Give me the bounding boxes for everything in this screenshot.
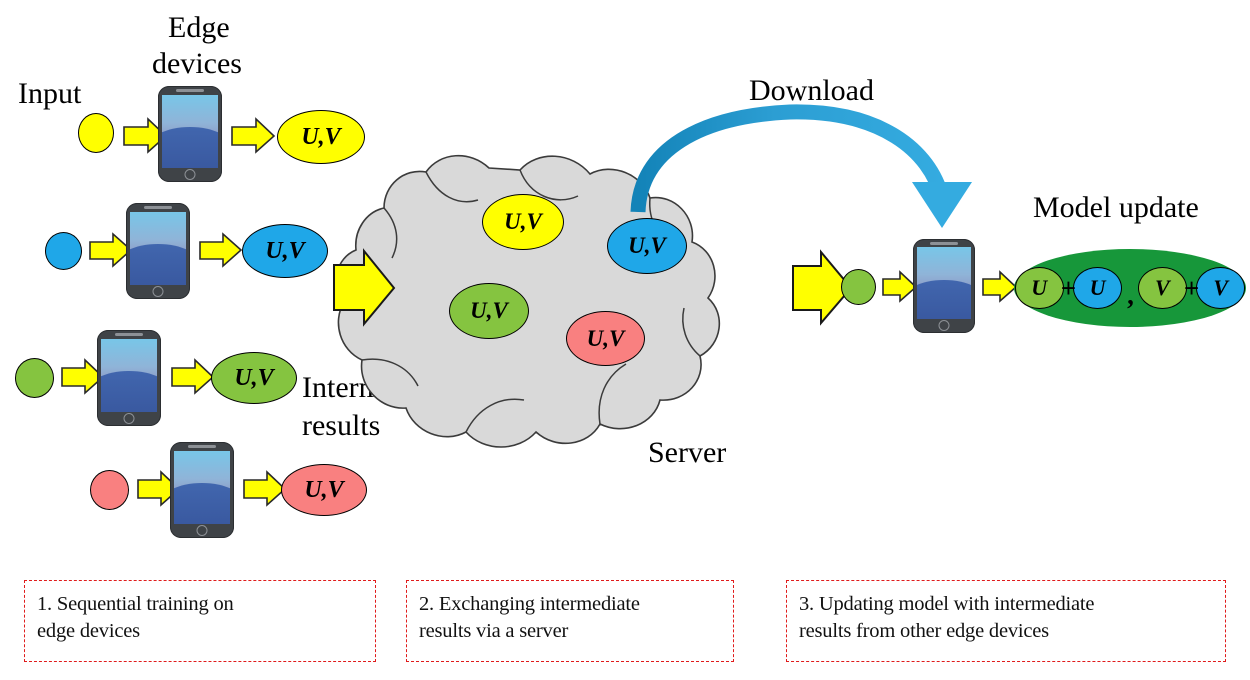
edge-device-phone-update xyxy=(913,239,975,333)
caption-3-line-1: 3. Updating model with intermediate xyxy=(799,591,1213,618)
caption-3-line-2: results from other edge devices xyxy=(799,618,1213,645)
edge-device-phone-1 xyxy=(158,86,222,182)
label-server: Server xyxy=(648,437,726,469)
result-ellipse-row4: U,V xyxy=(281,464,367,516)
model-term-u2: U xyxy=(1073,267,1122,309)
label-intermediate-line2: results xyxy=(302,410,380,442)
phone-home-button-icon xyxy=(153,286,164,297)
input-dot-row1 xyxy=(78,113,114,153)
model-term-v2: V xyxy=(1196,267,1245,309)
phone-wallpaper-arc xyxy=(101,371,156,411)
edge-device-phone-2 xyxy=(126,203,190,299)
phone-screen xyxy=(174,451,229,524)
result-ellipse-row3: U,V xyxy=(211,352,297,404)
model-term-u1: U xyxy=(1015,267,1064,309)
server-item-red: U,V xyxy=(566,311,645,366)
label-download: Download xyxy=(749,75,874,107)
aggregate-input-dot xyxy=(841,269,876,305)
phone-screen xyxy=(101,339,156,412)
phone-speaker-icon xyxy=(176,89,204,92)
server-item-green: U,V xyxy=(449,283,529,339)
phone-screen xyxy=(162,95,217,168)
model-term-v1: V xyxy=(1138,267,1187,309)
label-intermediate-line1: Intermediate xyxy=(302,372,454,404)
server-item-yellow: U,V xyxy=(482,194,564,250)
phone-wallpaper-arc xyxy=(130,244,185,284)
input-dot-row2 xyxy=(45,232,82,270)
caption-box-2: 2. Exchanging intermediate results via a… xyxy=(406,580,734,662)
phone-screen xyxy=(917,247,970,318)
phone-home-button-icon xyxy=(185,169,196,180)
result-ellipse-row1: U,V xyxy=(277,110,365,164)
model-comma: , xyxy=(1127,280,1134,327)
label-edge-devices-line2: devices xyxy=(152,48,242,80)
caption-2-line-1: 2. Exchanging intermediate xyxy=(419,591,721,618)
model-update-expression: U + U , V + V xyxy=(1014,249,1246,327)
phone-wallpaper-arc xyxy=(174,483,229,523)
caption-box-3: 3. Updating model with intermediate resu… xyxy=(786,580,1226,662)
phone-home-button-icon xyxy=(197,525,208,536)
diagram-canvas: Input Edge devices Intermediate results … xyxy=(0,0,1250,680)
caption-1-line-1: 1. Sequential training on xyxy=(37,591,363,618)
caption-2-line-2: results via a server xyxy=(419,618,721,645)
result-ellipse-row2: U,V xyxy=(242,224,328,278)
caption-1-line-2: edge devices xyxy=(37,618,363,645)
model-plus-2: + xyxy=(1184,273,1199,304)
phone-wallpaper-arc xyxy=(162,127,217,167)
phone-speaker-icon xyxy=(930,242,957,245)
caption-box-1: 1. Sequential training on edge devices xyxy=(24,580,376,662)
label-model-update: Model update xyxy=(1033,192,1199,224)
phone-speaker-icon xyxy=(144,206,172,209)
input-dot-row3 xyxy=(15,358,54,398)
phone-speaker-icon xyxy=(188,445,216,448)
server-item-blue: U,V xyxy=(607,218,687,274)
phone-wallpaper-arc xyxy=(917,280,970,319)
phone-home-button-icon xyxy=(939,320,950,331)
edge-device-phone-3 xyxy=(97,330,161,426)
label-input: Input xyxy=(18,78,81,110)
input-dot-row4 xyxy=(90,470,129,510)
label-edge-devices-line1: Edge xyxy=(168,12,230,44)
model-plus-1: + xyxy=(1061,273,1076,304)
big-arrow-to-server xyxy=(334,251,394,324)
phone-home-button-icon xyxy=(124,413,135,424)
phone-speaker-icon xyxy=(115,333,143,336)
edge-device-phone-4 xyxy=(170,442,234,538)
phone-screen xyxy=(130,212,185,285)
